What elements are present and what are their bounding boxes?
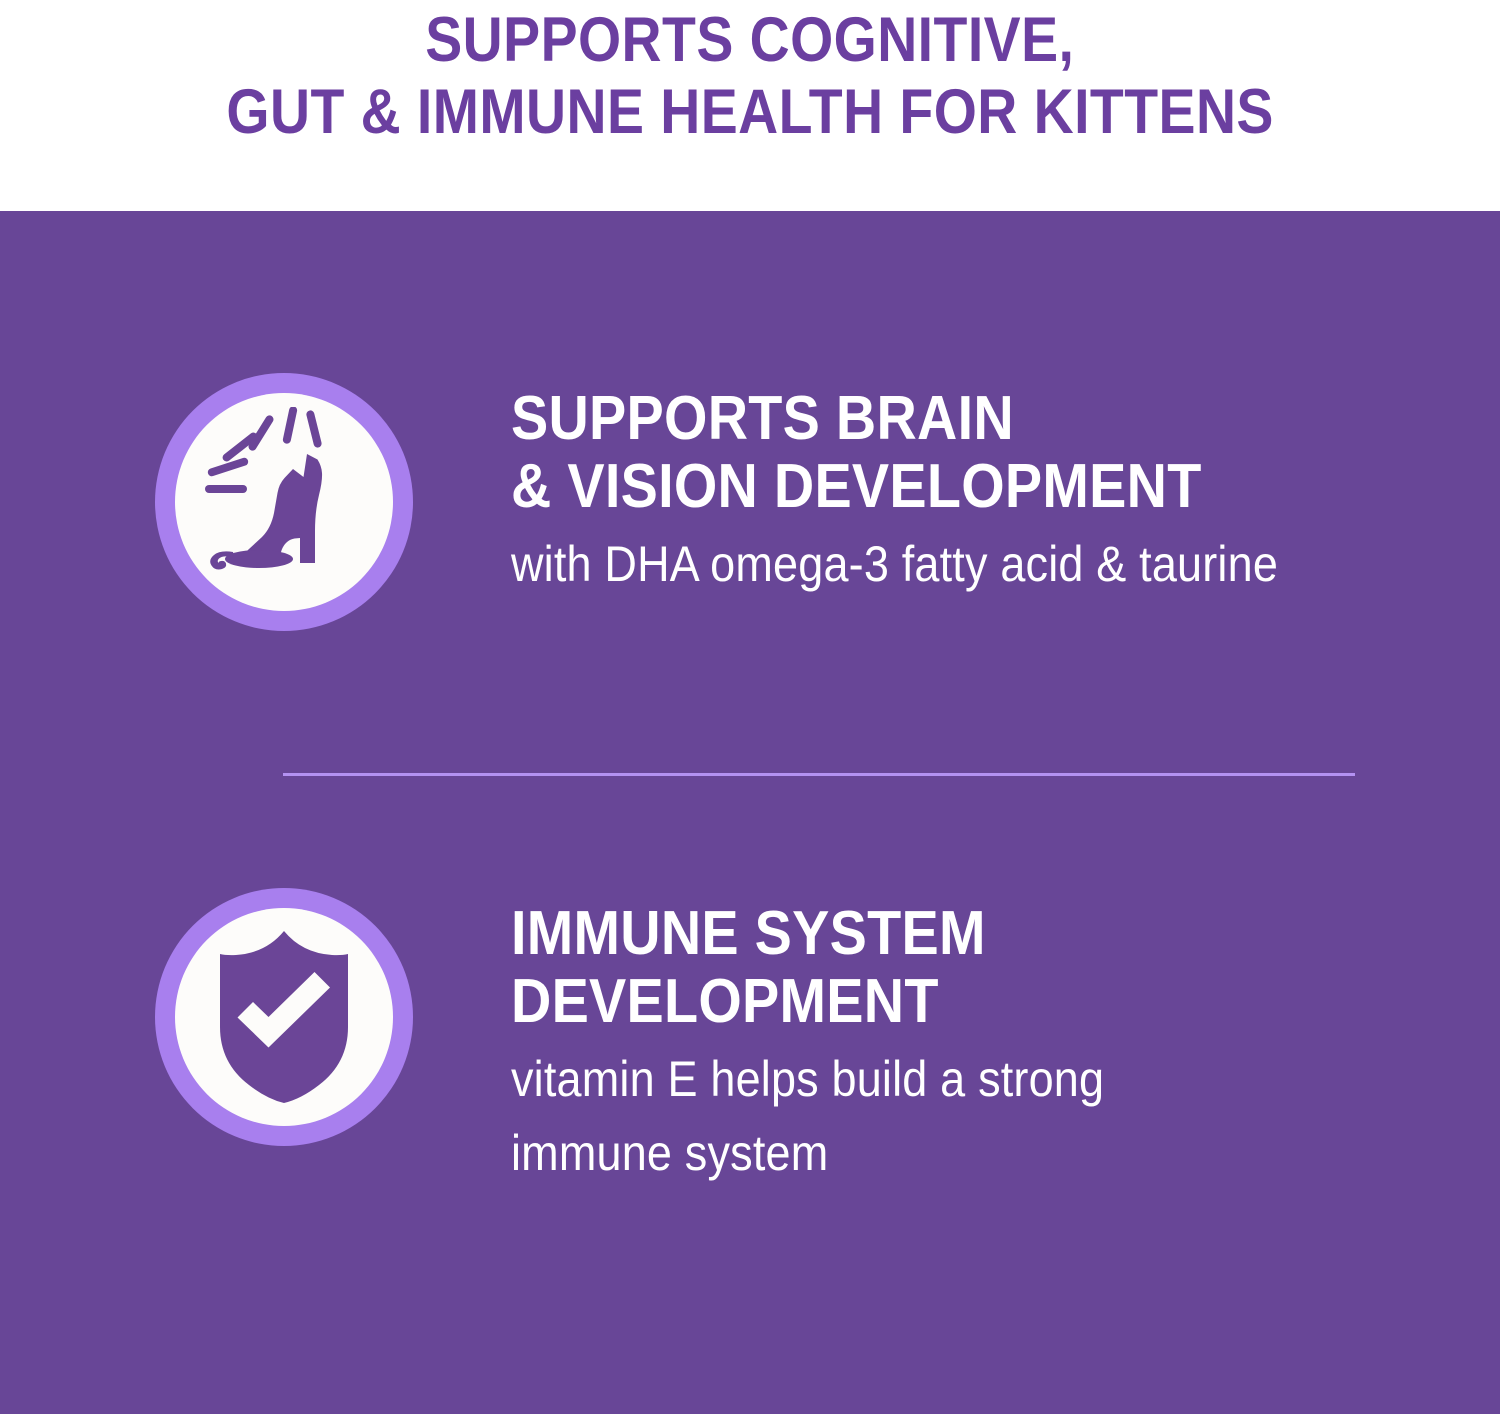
feature-immune-system: IMMUNE SYSTEM DEVELOPMENT vitamin E help… — [0, 888, 1170, 1184]
feature-brain-vision: SUPPORTS BRAIN & VISION DEVELOPMENT with… — [0, 373, 1363, 631]
header-banner: SUPPORTS COGNITIVE, GUT & IMMUNE HEALTH … — [0, 0, 1500, 211]
immune-system-text: IMMUNE SYSTEM DEVELOPMENT vitamin E help… — [511, 888, 1170, 1184]
immune-system-badge — [155, 888, 413, 1146]
immune-system-title-line-2: DEVELOPMENT — [511, 968, 1104, 1036]
cat-thinking-icon — [189, 407, 379, 597]
header-title-line-2: GUT & IMMUNE HEALTH FOR KITTENS — [226, 76, 1273, 148]
brain-vision-text: SUPPORTS BRAIN & VISION DEVELOPMENT with… — [511, 373, 1363, 595]
brain-vision-title-line-1: SUPPORTS BRAIN — [511, 385, 1278, 453]
brain-vision-subtitle-line-1: with DHA omega-3 fatty acid & taurine — [511, 533, 1278, 595]
section-divider — [283, 773, 1355, 776]
brain-vision-title-line-2: & VISION DEVELOPMENT — [511, 453, 1278, 521]
immune-system-subtitle-line-2: immune system — [511, 1122, 1104, 1184]
immune-system-subtitle-line-1: vitamin E helps build a strong — [511, 1048, 1104, 1110]
brain-vision-badge — [155, 373, 413, 631]
badge-inner — [175, 393, 393, 611]
badge-inner — [175, 908, 393, 1126]
benefits-panel: SUPPORTS BRAIN & VISION DEVELOPMENT with… — [0, 211, 1500, 1414]
product-benefits-graphic: SUPPORTS COGNITIVE, GUT & IMMUNE HEALTH … — [0, 0, 1500, 1414]
shield-check-icon — [204, 929, 364, 1105]
immune-system-title-line-1: IMMUNE SYSTEM — [511, 900, 1104, 968]
header-title-line-1: SUPPORTS COGNITIVE, — [425, 4, 1074, 76]
